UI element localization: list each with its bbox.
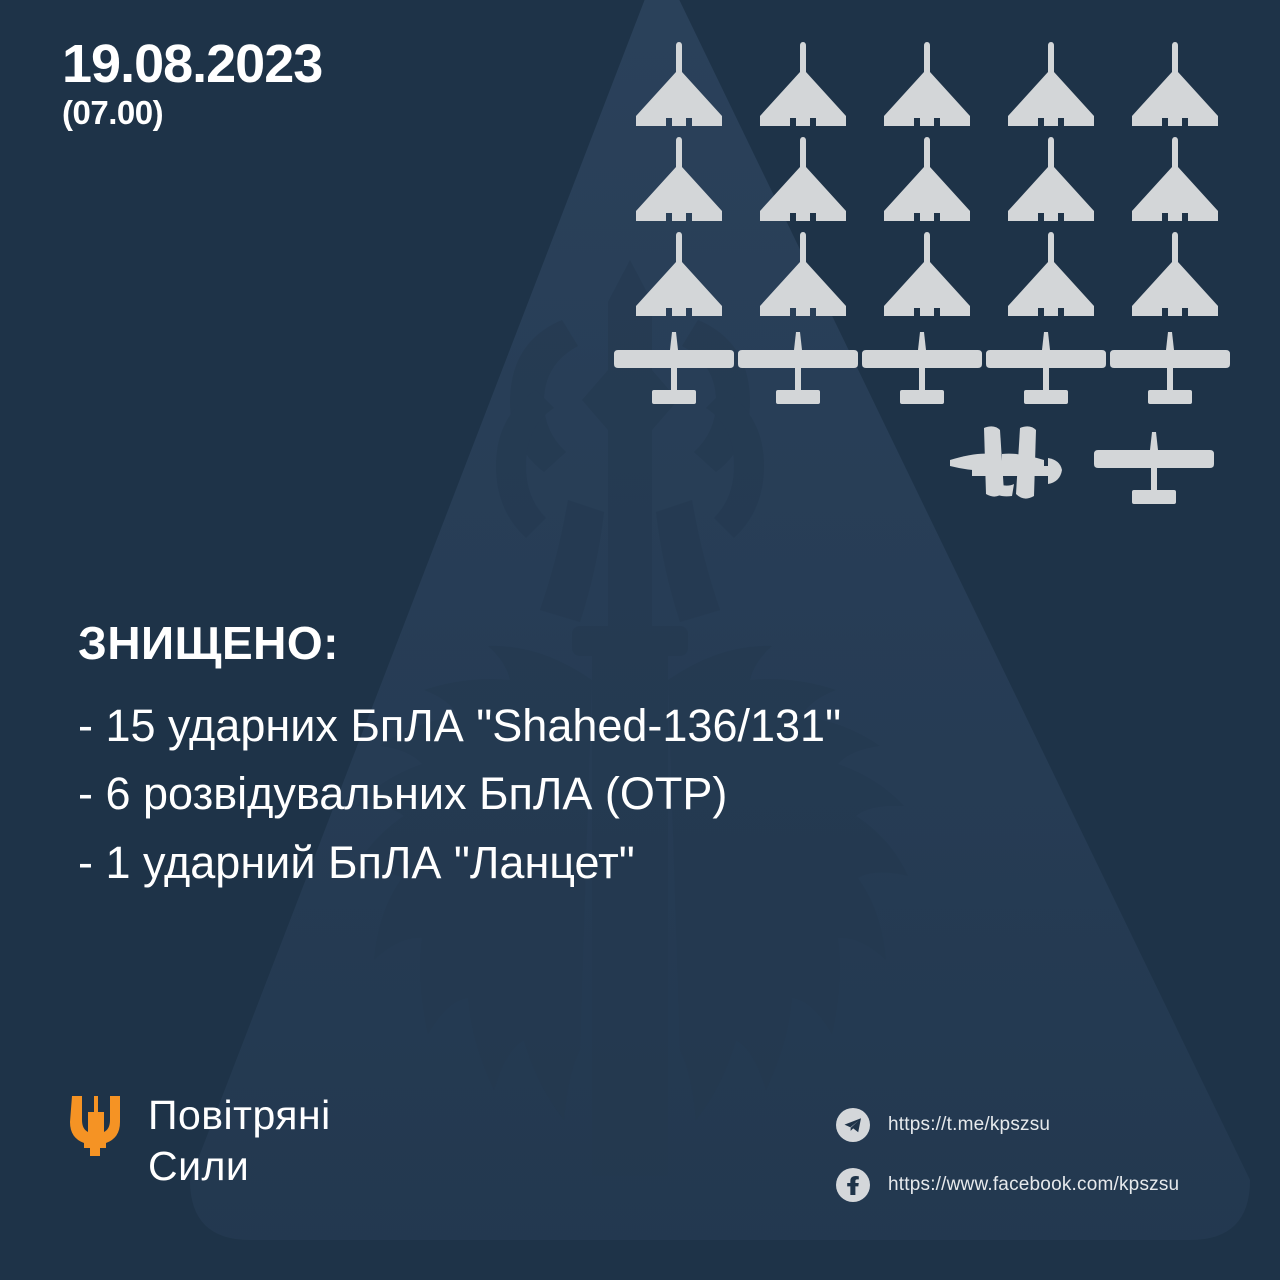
shahed-drone-icon (736, 133, 860, 225)
shahed-icon-row (612, 133, 1232, 225)
ukrainian-trident-icon (70, 1094, 122, 1156)
facebook-url[interactable]: https://www.facebook.com/kpszsu (888, 1174, 1179, 1196)
shahed-drone-icon (736, 228, 860, 320)
telegram-url[interactable]: https://t.me/kpszsu (888, 1114, 1050, 1136)
shahed-drone-icon (612, 228, 736, 320)
report-item-shahed: - 15 ударних БпЛА "Shahed-136/131" (78, 692, 1218, 760)
shahed-drone-icon (860, 38, 984, 130)
report-date: 19.08.2023 (62, 36, 322, 93)
brand-footer: Повітряні Сили (70, 1090, 331, 1192)
social-link-facebook[interactable]: https://www.facebook.com/kpszsu (836, 1168, 1216, 1202)
lancet-drone-icon (944, 422, 1068, 508)
shahed-drone-icon (984, 133, 1108, 225)
report-item-lancet: - 1 ударний БпЛА "Ланцет" (78, 829, 1218, 897)
recon-drone-icon (736, 330, 860, 408)
social-links: https://t.me/kpszsu https://www.facebook… (836, 1108, 1216, 1202)
report-item-recon: - 6 розвідувальних БпЛА (ОТР) (78, 760, 1218, 828)
shahed-drone-icon (612, 133, 736, 225)
date-header: 19.08.2023 (07.00) (62, 36, 322, 131)
shahed-drone-icon (1108, 228, 1232, 320)
shahed-drone-icon (736, 38, 860, 130)
social-link-telegram[interactable]: https://t.me/kpszsu (836, 1108, 1216, 1142)
shahed-drone-icon (612, 38, 736, 130)
shahed-drone-icon (1108, 38, 1232, 130)
recon-drone-icon (1092, 430, 1216, 508)
shahed-drone-icon (1108, 133, 1232, 225)
recon-icon-row (612, 330, 1232, 408)
recon-drone-icon (612, 330, 736, 408)
telegram-icon (836, 1108, 870, 1142)
shahed-drone-icon (860, 228, 984, 320)
shahed-icon-row (612, 228, 1232, 320)
report-time: (07.00) (62, 95, 322, 131)
infographic-poster: 19.08.2023 (07.00) (0, 0, 1280, 1280)
brand-name: Повітряні Сили (148, 1090, 331, 1192)
recon-drone-icon (1108, 330, 1232, 408)
recon-drone-icon (860, 330, 984, 408)
shahed-drone-icon (984, 38, 1108, 130)
report-title: ЗНИЩЕНО: (78, 620, 1218, 666)
facebook-icon (836, 1168, 870, 1202)
destroyed-targets-icon-grid (612, 38, 1232, 538)
recon-drone-icon (984, 330, 1108, 408)
shahed-drone-icon (984, 228, 1108, 320)
shahed-drone-icon (860, 133, 984, 225)
destroyed-report-block: ЗНИЩЕНО: - 15 ударних БпЛА "Shahed-136/1… (78, 620, 1218, 897)
shahed-icon-row (612, 38, 1232, 130)
mixed-icon-row (612, 416, 1232, 508)
